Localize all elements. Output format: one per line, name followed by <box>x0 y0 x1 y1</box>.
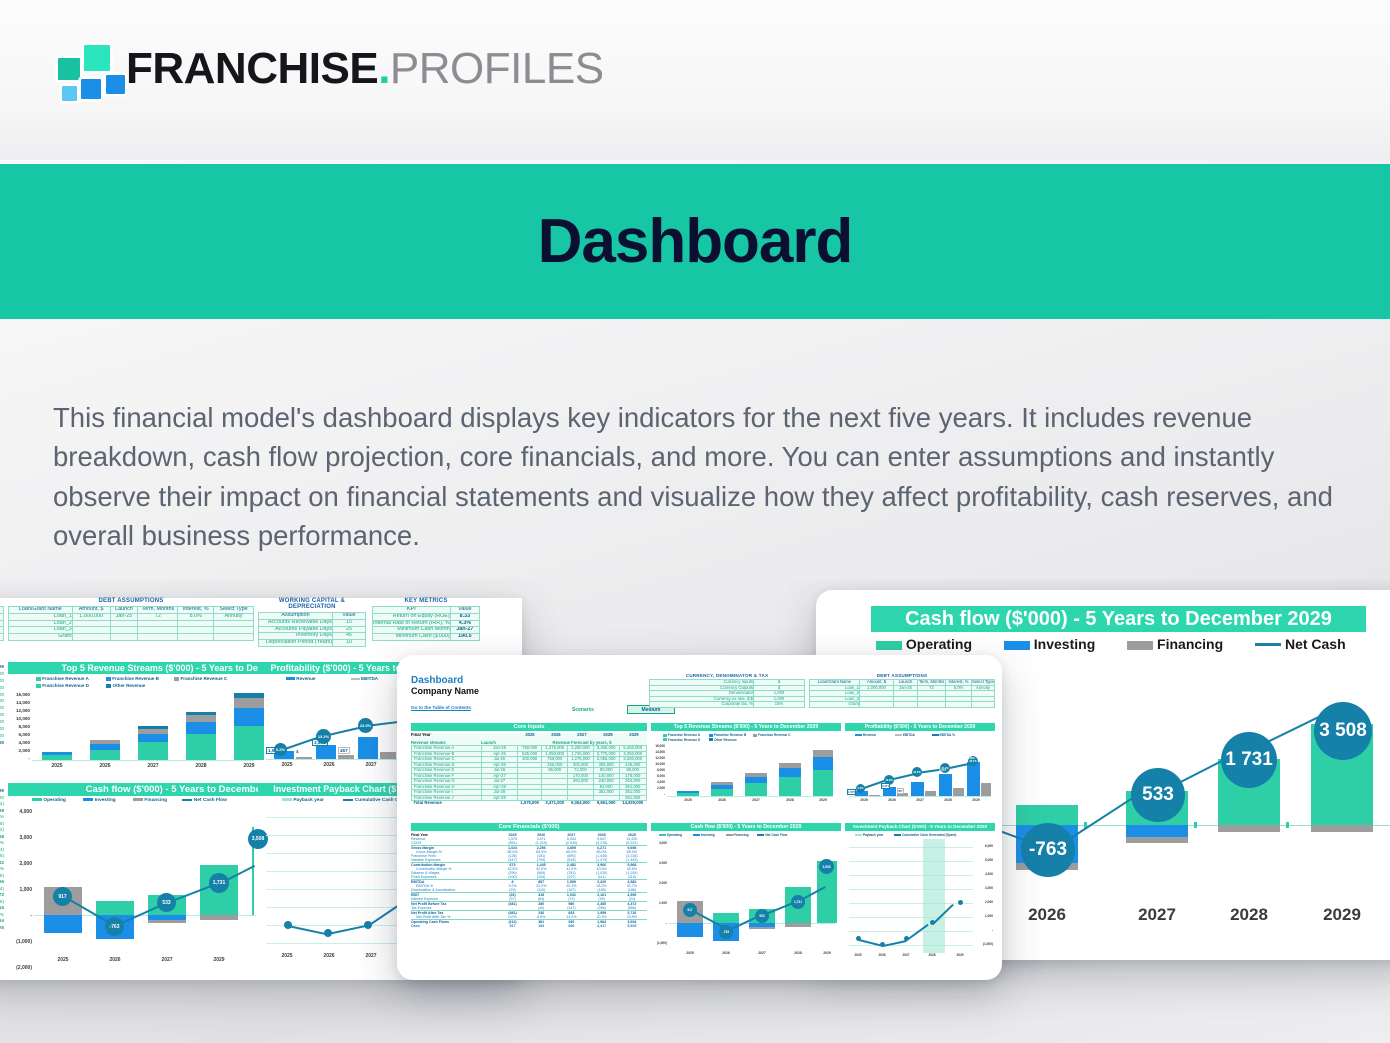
center-profitability-chart[interactable]: Revenue EBITDA EBITDA % 0 <box>845 733 995 819</box>
page-header: FRANCHISE.PROFILES <box>0 0 1390 160</box>
top5-legend: Franchise Revenue A Franchise Revenue B … <box>8 676 258 690</box>
working-capital-table[interactable]: AssumptionValue Accounts Receivable Days… <box>258 612 366 647</box>
squares-logo-icon <box>56 42 112 96</box>
core-inputs-title: Core Inputs <box>411 723 647 731</box>
key-metrics-block: KEY METRICS KPIValue Return on Equity (R… <box>372 598 480 641</box>
xtick-2027: 2027 <box>1126 905 1188 925</box>
legend-investing: Investing <box>1004 636 1095 652</box>
cashflow-right-chart-title: Cash flow ($'000) - 5 Years to December … <box>871 606 1366 632</box>
center-sheet-title: Dashboard <box>411 675 479 686</box>
center-payback-chart[interactable]: Payback year Cumulative Cash Generated (… <box>845 833 995 973</box>
page-title: Dashboard <box>538 206 853 277</box>
core-financials-title: Core Financials ($'000) <box>411 823 647 831</box>
top5-revenue-chart[interactable]: Franchise Revenue A Franchise Revenue B … <box>8 676 258 788</box>
page-description: This financial model's dashboard display… <box>53 398 1343 555</box>
center-cashflow-chart[interactable]: Operating Investing Financing Net Cash F… <box>651 833 841 973</box>
center-payback-title: Investment Payback Chart ($'000) - 5 Yea… <box>845 823 995 831</box>
left-truncated-column: 2029 5,250,0004,350,0003,300,000426,000 … <box>0 664 4 747</box>
toc-link[interactable]: Go to the Table of Contents <box>411 705 471 710</box>
datalabel-2026: -763 <box>1021 823 1075 877</box>
center-payback-legend: Payback year Cumulative Cash Generated (… <box>845 833 995 837</box>
center-cashflow-legend: Operating Investing Financing Net Cash F… <box>651 833 841 837</box>
center-dashboard-panel[interactable]: Dashboard Company Name Go to the Table o… <box>397 655 1002 980</box>
center-company-name: Company Name <box>411 686 479 696</box>
key-metrics-title: KEY METRICS <box>372 598 480 604</box>
debt-assumptions-block: DEBT ASSUMPTIONS Loan/Grant Name Amount,… <box>8 598 254 641</box>
core-financials-block[interactable]: Final Year 2025 2026 2027 2028 2029 Reve… <box>411 833 647 928</box>
screenshot-collage: & TAX $ $ 1,000 1,000 15% DEBT ASSUMPTIO… <box>0 580 1390 1043</box>
center-cashflow-title: Cash flow ($'000) - 5 Years to December … <box>651 823 841 831</box>
brand-name-light: PROFILES <box>390 44 604 93</box>
xtick-2029: 2029 <box>1311 905 1373 925</box>
xtick-2026: 2026 <box>1016 905 1078 925</box>
currency-block-title: CURRENCY, DENOMINATOR & TAX <box>649 673 805 678</box>
center-top5-chart[interactable]: Franchise Revenue A Franchise Revenue B … <box>651 733 841 819</box>
debt-assumptions-title: DEBT ASSUMPTIONS <box>8 598 254 604</box>
key-metrics-table[interactable]: KPIValue Return on Equity (ROE)8.33 Inte… <box>372 606 480 641</box>
scenario-label: Scenario: <box>572 707 595 713</box>
legend-operating: Operating <box>876 636 972 652</box>
brand-wordmark: FRANCHISE.PROFILES <box>126 47 604 91</box>
center-debt-table[interactable]: Loan/Grant NameAmount, $ LaunchTerm, Mon… <box>809 679 995 708</box>
center-profitability-legend: Revenue EBITDA EBITDA % <box>845 733 995 737</box>
brand-name-bold: FRANCHISE <box>126 44 378 93</box>
brand-name-dot: . <box>378 44 390 93</box>
center-top5-legend: Franchise Revenue A Franchise Revenue B … <box>651 733 841 743</box>
brand-logo: FRANCHISE.PROFILES <box>56 42 604 96</box>
center-debt-block: DEBT ASSUMPTIONS Loan/Grant NameAmount, … <box>809 673 995 708</box>
legend-financing: Financing <box>1127 636 1223 652</box>
working-capital-block: WORKING CAPITAL & DEPRECIATION Assumptio… <box>258 598 366 647</box>
datalabel-2028: 1 731 <box>1221 732 1277 788</box>
datalabel-2027: 533 <box>1131 768 1185 822</box>
page-banner: Dashboard <box>0 164 1390 319</box>
center-profitability-title: Profitability ($'000) - 5 Years to Decem… <box>845 723 995 731</box>
center-heading: Dashboard Company Name Go to the Table o… <box>411 675 479 714</box>
currency-block: CURRENCY, DENOMINATOR & TAX Currency Inp… <box>649 673 805 708</box>
xtick-2028: 2028 <box>1218 905 1280 925</box>
left-truncated-financials: 2029 14,920(5,222)9,69865.0% (2,238)(1,4… <box>0 788 4 931</box>
center-debt-title: DEBT ASSUMPTIONS <box>809 673 995 678</box>
cashflow-left-legend: Operating Investing Financing Net Cash F… <box>8 798 263 803</box>
datalabel-2029: 3 508 <box>1314 702 1372 760</box>
cashflow-left-chart[interactable]: Operating Investing Financing Net Cash F… <box>8 798 263 958</box>
working-capital-title: WORKING CAPITAL & DEPRECIATION <box>258 598 366 610</box>
center-top5-title: Top 5 Revenue Streams ($'000) - 5 Years … <box>651 723 841 731</box>
core-inputs-block[interactable]: Final Year 2025 2026 2027 2028 2029 Reve… <box>411 733 647 806</box>
currency-table[interactable]: Currency Inputs$ Currency Outputs$ Denom… <box>649 679 805 708</box>
core-financials-table[interactable]: Final Year 2025 2026 2027 2028 2029 Reve… <box>411 833 647 928</box>
revenue-forecast-table[interactable]: Franchise Revenue AJan-25750,0001,275,00… <box>411 745 647 806</box>
currency-block-title-partial: & TAX <box>0 598 4 604</box>
debt-assumptions-table[interactable]: Loan/Grant Name Amount, $ Launch Term, M… <box>8 606 254 641</box>
